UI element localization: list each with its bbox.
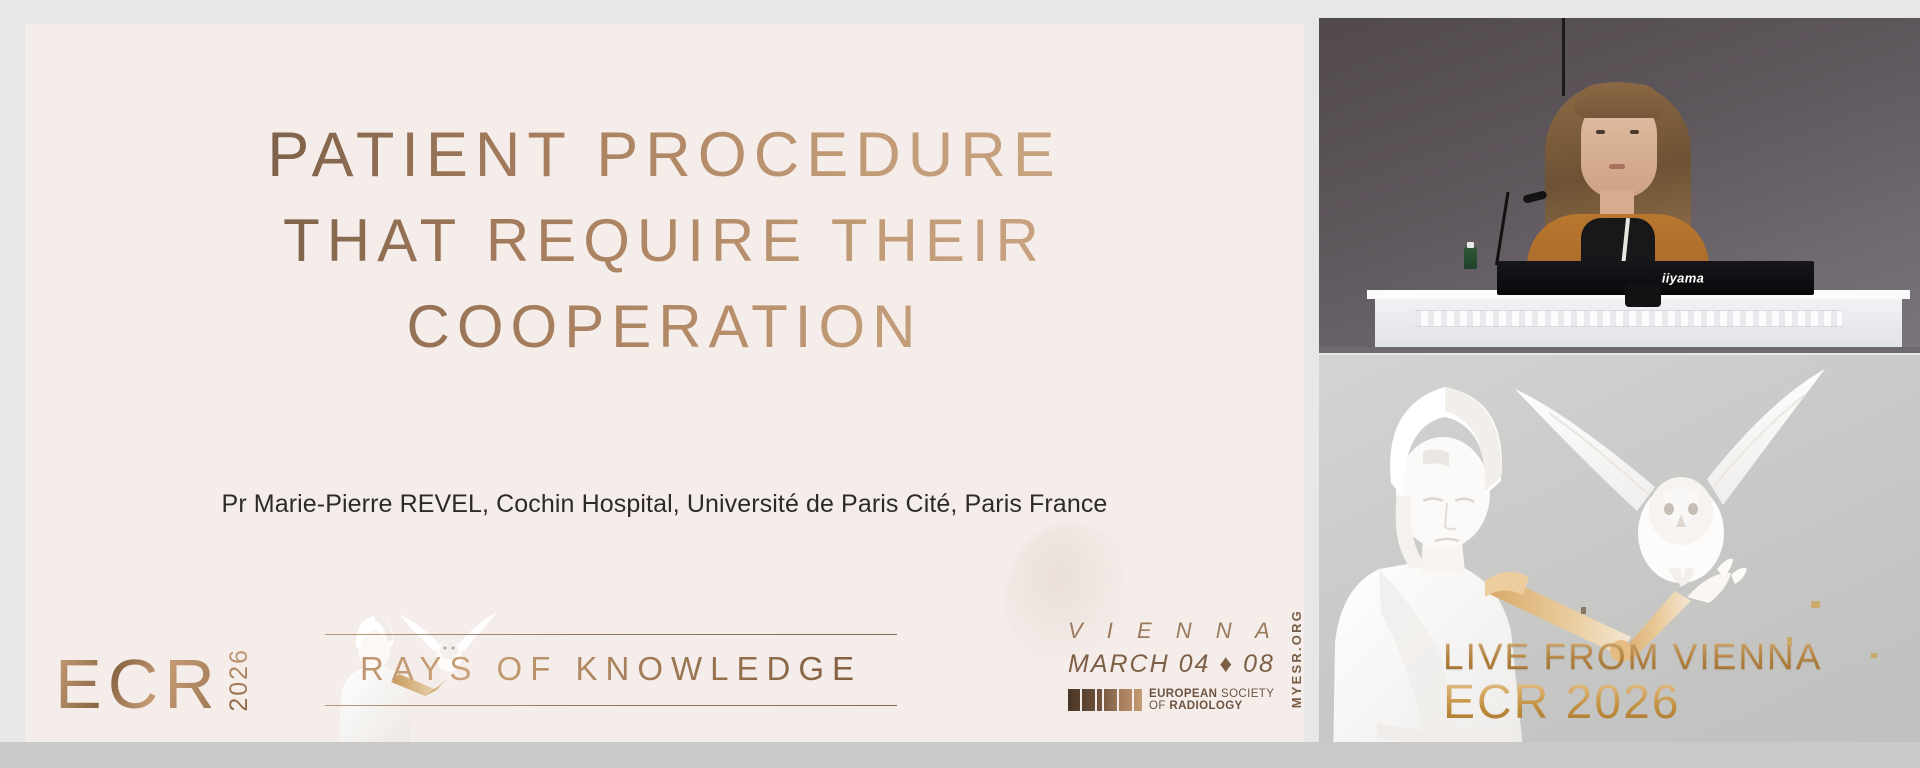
slide-title-line-3: COOPERATION [25,284,1304,370]
webcam-device-icon [1625,283,1661,307]
speaker-eye-right [1630,130,1639,134]
ecr-logo: ECR 2026 [55,648,252,718]
promo-line-2: ECR 2026 [1443,677,1822,730]
esr-mark-icon [1068,689,1142,711]
venue-block: V I E N N A MARCH 04 ♦ 08 EUROPEAN SOCIE… [1068,618,1268,712]
speaker-video-panel[interactable]: iiyama [1319,18,1920,353]
presentation-slide[interactable]: PATIENT PROCEDURE THAT REQUIRE THEIR COO… [25,24,1304,742]
venue-city: V I E N N A [1068,618,1268,644]
slide-title-line-2: THAT REQUIRE THEIR [25,198,1304,284]
esr-logo: EUROPEAN SOCIETY OF RADIOLOGY [1068,688,1268,712]
ecr-logo-word: ECR [55,651,221,718]
promo-fleck-1 [1811,601,1820,608]
venue-dates: MARCH 04 ♦ 08 [1068,650,1268,679]
speaker-fringe [1575,84,1663,118]
slide-tagline-block: RAYS OF KNOWLEDGE [325,634,897,706]
slide-tagline: RAYS OF KNOWLEDGE [325,650,897,688]
stage-floor [1319,347,1920,353]
lectern-ornament-band [1415,310,1842,327]
promo-fleck-3 [1581,607,1586,614]
speaker-mouth [1609,164,1625,169]
speaker-eye-left [1596,130,1605,134]
promo-line-1: LIVE FROM VIENNA [1443,637,1822,677]
lectern-monitor: iiyama [1497,261,1814,295]
esr-text-of: OF [1149,700,1166,712]
tagline-rule-top [325,634,897,635]
esr-text-european: EUROPEAN [1149,688,1217,700]
tagline-rule-bottom [325,705,897,706]
myesr-website: MYESR.ORG [1289,609,1304,708]
slide-footer: ECR 2026 RAYS OF KNOWLEDGE V I E N N A M… [25,582,1304,742]
promo-overlay-text: LIVE FROM VIENNA ECR 2026 [1443,637,1822,730]
promo-panel[interactable]: LIVE FROM VIENNA ECR 2026 [1319,355,1920,768]
slide-title-line-1: PATIENT PROCEDURE [25,112,1304,198]
water-bottle [1464,247,1477,269]
slide-title: PATIENT PROCEDURE THAT REQUIRE THEIR COO… [25,112,1304,370]
esr-text-radiology: RADIOLOGY [1169,700,1242,712]
esr-text-society: SOCIETY [1221,688,1274,700]
page-bottom-strip [0,742,1920,768]
slide-speaker-affiliation: Pr Marie-Pierre REVEL, Cochin Hospital, … [25,490,1304,519]
promo-fleck-4 [1871,653,1877,658]
ecr-logo-year: 2026 [227,648,252,712]
monitor-brand-label: iiyama [1662,271,1704,286]
esr-logo-text: EUROPEAN SOCIETY OF RADIOLOGY [1149,688,1274,712]
screen-root: PATIENT PROCEDURE THAT REQUIRE THEIR COO… [0,0,1920,768]
